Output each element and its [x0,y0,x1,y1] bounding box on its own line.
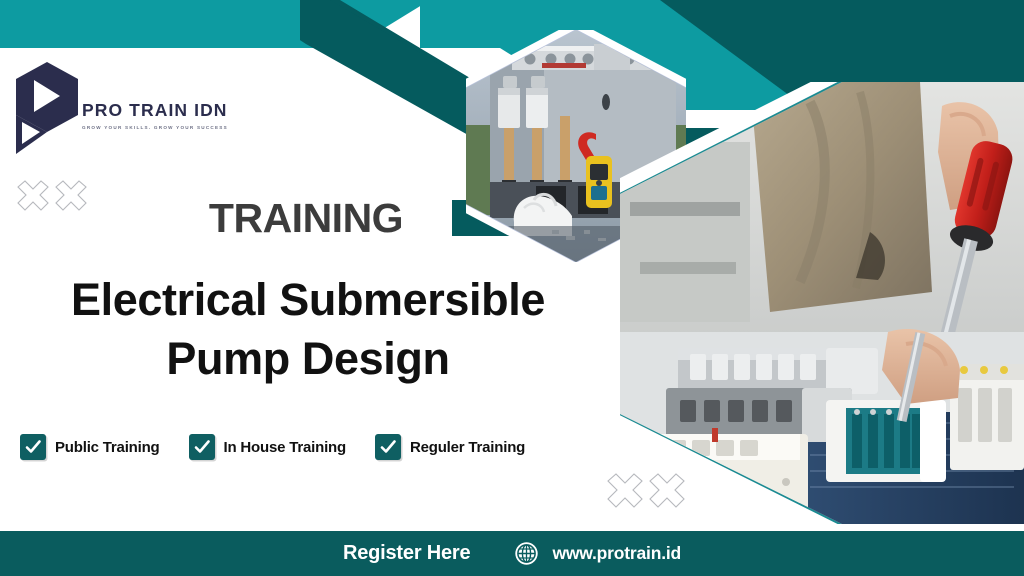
hex-photo-technician-screwdriver [620,82,1024,524]
website-link[interactable]: www.protrain.id [514,541,681,566]
training-types-list: Public Training In House Training Regule… [20,434,525,460]
logo-name: PRO TRAIN IDN [82,102,228,120]
chevron-hexagon-logo-icon [16,62,78,154]
training-promo-banner: PRO TRAIN IDN GROW YOUR SKILLS. GROW YOU… [0,0,1024,576]
page-title: Electrical Submersible Pump Design [0,270,616,389]
training-type-in-house[interactable]: In House Training [189,434,346,460]
footer-bar: Register Here www.protrain.id [0,531,1024,576]
kicker-training: TRAINING [0,198,612,239]
training-type-label: Reguler Training [410,439,525,456]
training-type-label: Public Training [55,439,160,456]
register-here-label[interactable]: Register Here [343,542,470,565]
training-type-reguler[interactable]: Reguler Training [375,434,525,460]
globe-icon [514,541,539,566]
title-line-2: Pump Design [0,329,616,388]
logo-text: PRO TRAIN IDN GROW YOUR SKILLS. GROW YOU… [82,102,228,130]
title-line-1: Electrical Submersible [0,270,616,329]
website-url: www.protrain.id [552,543,681,564]
brand-logo[interactable]: PRO TRAIN IDN GROW YOUR SKILLS. GROW YOU… [16,62,226,167]
check-icon [20,434,46,460]
training-type-public[interactable]: Public Training [20,434,160,460]
check-icon [375,434,401,460]
training-type-label: In House Training [224,439,346,456]
logo-tagline: GROW YOUR SKILLS. GROW YOUR SUCCESS [82,125,228,130]
check-icon [189,434,215,460]
x-cross-outline-icon-right [604,472,686,514]
